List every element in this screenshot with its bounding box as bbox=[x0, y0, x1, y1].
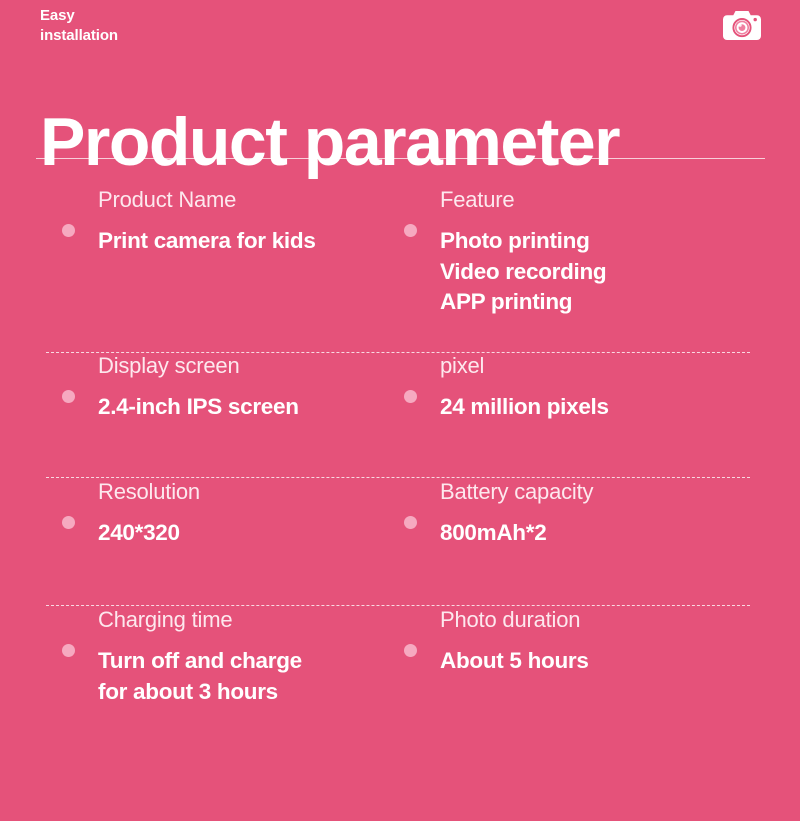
spec-label: Resolution bbox=[98, 478, 392, 506]
camera-icon bbox=[720, 8, 764, 44]
spec-value-line: 800mAh*2 bbox=[440, 518, 764, 548]
spec-value: Photo printingVideo recordingAPP printin… bbox=[440, 226, 764, 317]
spec-cell: Photo durationAbout 5 hours bbox=[404, 606, 764, 677]
spec-text: Battery capacity800mAh*2 bbox=[440, 478, 764, 549]
spec-cell: FeaturePhoto printingVideo recordingAPP … bbox=[404, 186, 764, 317]
spec-label: pixel bbox=[440, 352, 764, 380]
bullet-dot-icon bbox=[404, 516, 417, 529]
spec-label: Feature bbox=[440, 186, 764, 214]
bullet-dot-icon bbox=[62, 224, 75, 237]
spec-value-line: Video recording bbox=[440, 257, 764, 287]
bullet-dot-icon bbox=[62, 644, 75, 657]
spec-value-line: 24 million pixels bbox=[440, 392, 764, 422]
spec-text: FeaturePhoto printingVideo recordingAPP … bbox=[440, 186, 764, 317]
spec-value-line: APP printing bbox=[440, 287, 764, 317]
spec-value-line: 2.4-inch IPS screen bbox=[98, 392, 392, 422]
spec-text: pixel24 million pixels bbox=[440, 352, 764, 423]
bullet-dot-icon bbox=[404, 224, 417, 237]
spec-text: Charging timeTurn off and chargefor abou… bbox=[98, 606, 392, 707]
spec-value-line: for about 3 hours bbox=[98, 677, 392, 707]
easy-installation-line-2: installation bbox=[40, 26, 220, 46]
spec-cell: Battery capacity800mAh*2 bbox=[404, 478, 764, 549]
easy-installation-line-1: Easy bbox=[40, 6, 220, 26]
easy-installation-badge: Easy installation bbox=[40, 6, 220, 46]
spec-text: Display screen2.4-inch IPS screen bbox=[98, 352, 392, 423]
bullet-dot-icon bbox=[62, 390, 75, 403]
spec-value: 24 million pixels bbox=[440, 392, 764, 422]
spec-value: Print camera for kids bbox=[98, 226, 392, 256]
spec-cell: Product NamePrint camera for kids bbox=[62, 186, 392, 257]
spec-label: Photo duration bbox=[440, 606, 764, 634]
spec-value: 800mAh*2 bbox=[440, 518, 764, 548]
spec-label: Charging time bbox=[98, 606, 392, 634]
page-title: Product parameter bbox=[40, 108, 619, 176]
spec-row: Charging timeTurn off and chargefor abou… bbox=[0, 606, 800, 756]
spec-label: Battery capacity bbox=[440, 478, 764, 506]
spec-text: Product NamePrint camera for kids bbox=[98, 186, 392, 257]
spec-value-line: Print camera for kids bbox=[98, 226, 392, 256]
spec-label: Display screen bbox=[98, 352, 392, 380]
spec-value: Turn off and chargefor about 3 hours bbox=[98, 646, 392, 707]
spec-value: About 5 hours bbox=[440, 646, 764, 676]
spec-label: Product Name bbox=[98, 186, 392, 214]
spec-cell: pixel24 million pixels bbox=[404, 352, 764, 423]
spec-text: Resolution240*320 bbox=[98, 478, 392, 549]
bullet-dot-icon bbox=[404, 644, 417, 657]
spec-value: 240*320 bbox=[98, 518, 392, 548]
spec-cell: Resolution240*320 bbox=[62, 478, 392, 549]
bullet-dot-icon bbox=[404, 390, 417, 403]
spec-cell: Charging timeTurn off and chargefor abou… bbox=[62, 606, 392, 707]
spec-value: 2.4-inch IPS screen bbox=[98, 392, 392, 422]
spec-value-line: Photo printing bbox=[440, 226, 764, 256]
title-divider bbox=[36, 158, 765, 159]
spec-value-line: 240*320 bbox=[98, 518, 392, 548]
spec-value-line: Turn off and charge bbox=[98, 646, 392, 676]
spec-row: Product NamePrint camera for kidsFeature… bbox=[0, 186, 800, 336]
spec-value-line: About 5 hours bbox=[440, 646, 764, 676]
spec-text: Photo durationAbout 5 hours bbox=[440, 606, 764, 677]
bullet-dot-icon bbox=[62, 516, 75, 529]
spec-cell: Display screen2.4-inch IPS screen bbox=[62, 352, 392, 423]
